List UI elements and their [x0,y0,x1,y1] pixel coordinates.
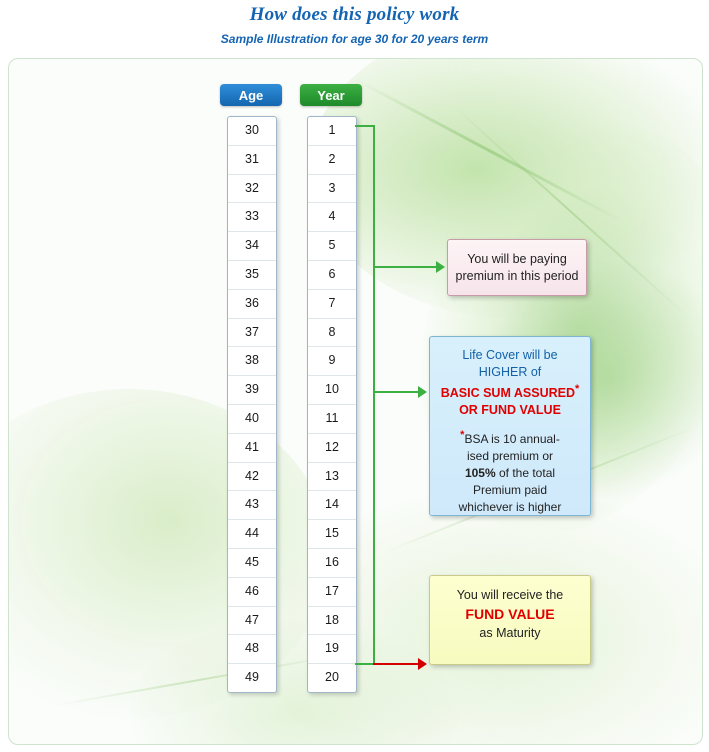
age-cell: 44 [228,520,276,549]
age-column-header: Age [220,84,282,106]
callout-premium-line1: You will be paying [467,252,567,266]
arrow-head-cover-icon [418,386,427,398]
year-cell: 20 [308,664,356,692]
age-cell: 36 [228,290,276,319]
background-decoration [8,389,329,719]
year-cell: 19 [308,635,356,664]
year-cell: 1 [308,117,356,146]
cover-note: *BSA is 10 annual- ised premium or 105% … [438,427,582,516]
age-cell: 37 [228,319,276,348]
callout-fund-value: You will receive the FUND VALUE as Matur… [429,575,591,665]
age-cell: 33 [228,203,276,232]
cover-note-text1: BSA is 10 annual- [464,432,559,446]
year-cell: 5 [308,232,356,261]
arrow-line-maturity [373,663,419,665]
fund-line2: FUND VALUE [438,605,582,624]
year-cell: 9 [308,347,356,376]
background-decoration [356,79,622,222]
cover-note-line1: *BSA is 10 annual- [438,427,582,448]
bracket-bottom-stub [355,663,375,665]
year-cell: 12 [308,434,356,463]
age-cell: 35 [228,261,276,290]
age-cell: 43 [228,491,276,520]
bracket-spine [373,126,375,664]
diagram-panel: Age Year 3031323334353637383940414243444… [8,58,703,745]
asterisk-marker: * [575,383,579,395]
year-cell: 15 [308,520,356,549]
cover-line2: HIGHER of [438,364,582,381]
year-cell: 4 [308,203,356,232]
age-cell: 38 [228,347,276,376]
fund-line3: as Maturity [438,624,582,643]
year-cell: 7 [308,290,356,319]
cover-note-line5: whichever is higher [438,499,582,516]
age-cell: 42 [228,463,276,492]
year-cell: 11 [308,405,356,434]
background-decoration [51,653,347,707]
year-column-header: Year [300,84,362,106]
year-column: 1234567891011121314151617181920 [307,116,357,693]
year-cell: 18 [308,607,356,636]
fund-line1: You will receive the [438,586,582,605]
age-cell: 41 [228,434,276,463]
age-cell: 47 [228,607,276,636]
cover-note-line2: ised premium or [438,448,582,465]
year-cell: 6 [308,261,356,290]
age-cell: 49 [228,664,276,692]
age-cell: 32 [228,175,276,204]
age-cell: 48 [228,635,276,664]
age-cell: 31 [228,146,276,175]
arrow-head-maturity-icon [418,658,427,670]
cover-line4: OR FUND VALUE [438,402,582,419]
arrow-line-cover [373,391,419,393]
year-cell: 3 [308,175,356,204]
age-cell: 46 [228,578,276,607]
year-cell: 10 [308,376,356,405]
cover-line1: Life Cover will be [438,347,582,364]
age-column: 3031323334353637383940414243444546474849 [227,116,277,693]
age-cell: 34 [228,232,276,261]
cover-note-line4: Premium paid [438,482,582,499]
background-decoration [129,619,459,745]
age-cell: 39 [228,376,276,405]
callout-life-cover: Life Cover will be HIGHER of BASIC SUM A… [429,336,591,516]
bracket-top-stub [355,125,375,127]
cover-note-line3: 105% of the total [438,465,582,482]
cover-line3-text: BASIC SUM ASSURED [441,386,575,400]
year-cell: 16 [308,549,356,578]
cover-note-pct: 105% [465,466,496,480]
cover-note-text3: of the total [496,466,555,480]
age-cell: 30 [228,117,276,146]
arrow-line-premium [373,266,437,268]
cover-line3: BASIC SUM ASSURED* [438,381,582,402]
year-cell: 2 [308,146,356,175]
callout-premium-line2: premium in this period [456,269,579,283]
callout-premium: You will be paying premium in this perio… [447,239,587,296]
page-title: How does this policy work [0,4,709,26]
arrow-head-premium-icon [436,261,445,273]
year-cell: 13 [308,463,356,492]
year-cell: 17 [308,578,356,607]
page-subtitle: Sample Illustration for age 30 for 20 ye… [0,32,709,46]
age-cell: 40 [228,405,276,434]
year-cell: 8 [308,319,356,348]
year-cell: 14 [308,491,356,520]
age-cell: 45 [228,549,276,578]
